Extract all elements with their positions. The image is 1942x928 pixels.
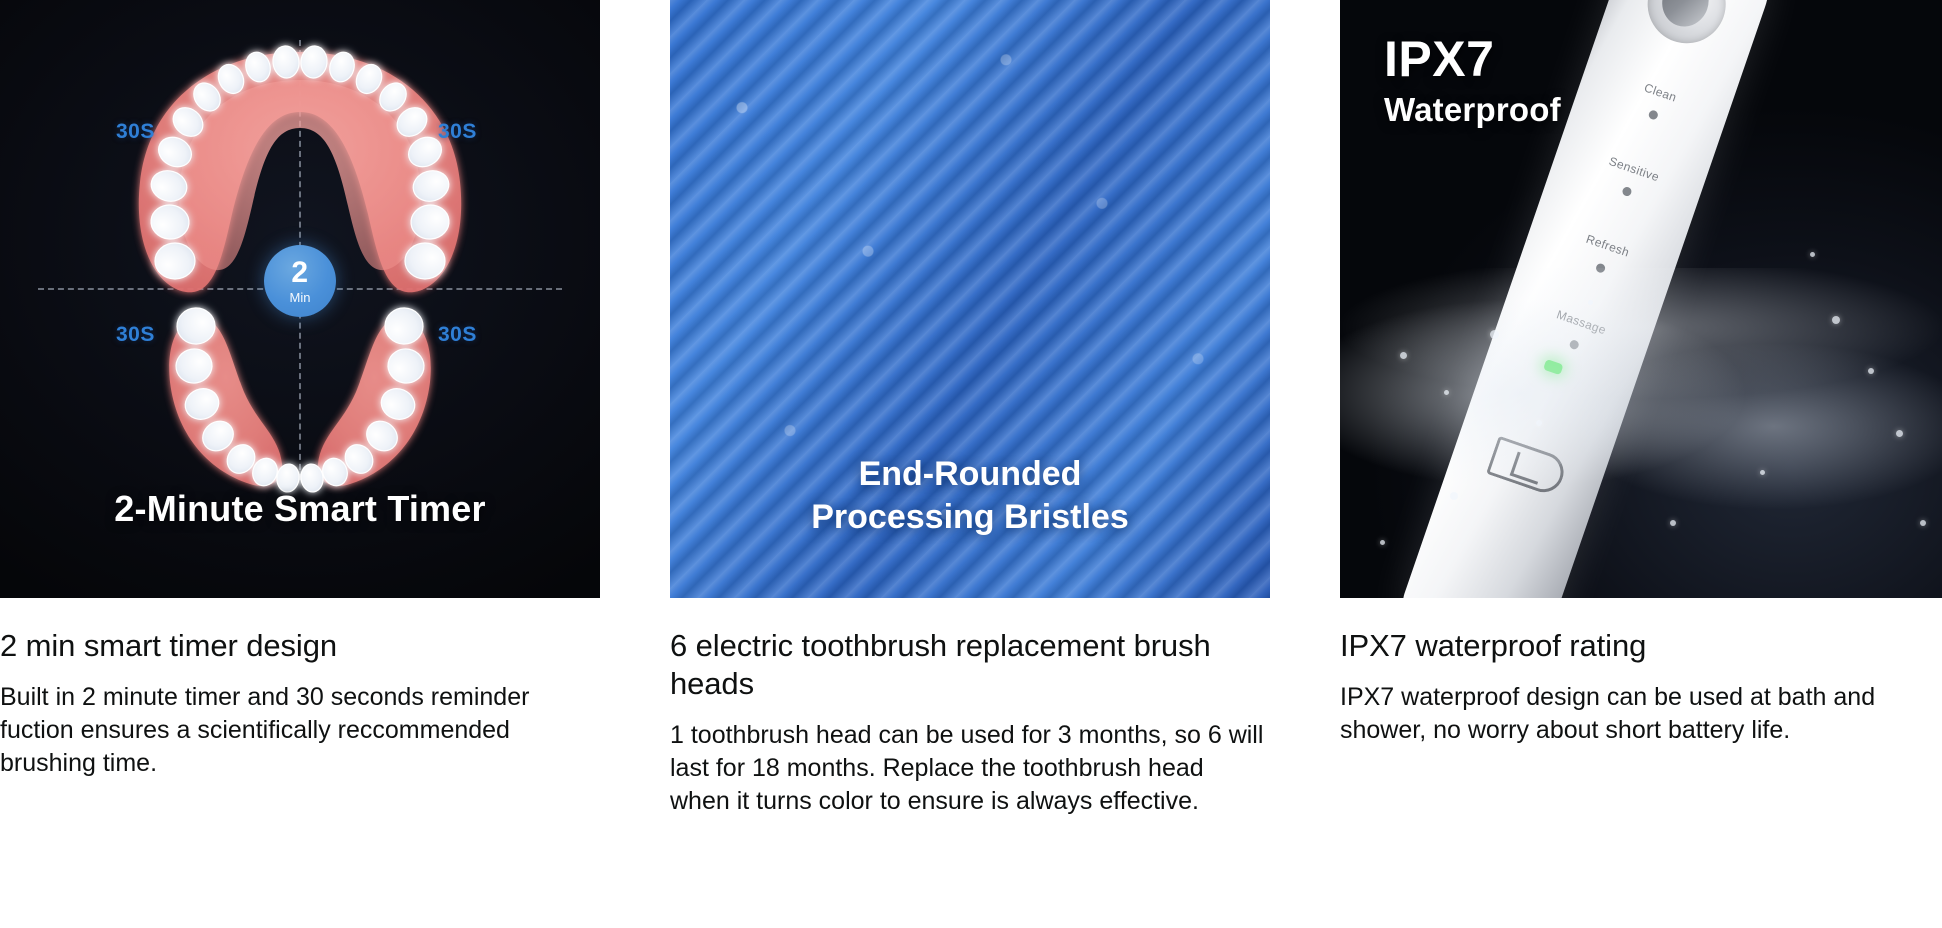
feature-title-brush-heads: 6 electric toothbrush replacement brush … xyxy=(670,598,1270,703)
feature-title-ipx7: IPX7 waterproof rating xyxy=(1340,598,1942,665)
timer-feature-image: 30S 30S 30S 30S 2 Min 2-Minute Smart Tim… xyxy=(0,0,600,598)
feature-grid: 30S 30S 30S 30S 2 Min 2-Minute Smart Tim… xyxy=(0,0,1942,818)
feature-cards-page: 30S 30S 30S 30S 2 Min 2-Minute Smart Tim… xyxy=(0,0,1942,928)
mode-dot-sensitive xyxy=(1621,186,1632,197)
timer-label-top-left: 30S xyxy=(116,120,155,144)
mode-label-massage: Massage xyxy=(1555,307,1608,337)
mode-label-sensitive: Sensitive xyxy=(1607,154,1661,184)
mode-label-refresh: Refresh xyxy=(1584,232,1631,260)
feature-body-smart-timer: Built in 2 minute timer and 30 seconds r… xyxy=(0,665,600,781)
two-minute-badge: 2 Min xyxy=(264,245,336,317)
ipx7-feature-image: Clean Sensitive Refresh Massage xyxy=(1340,0,1942,598)
mode-dot-clean xyxy=(1647,109,1658,120)
bristles-image-caption: End-Rounded Processing Bristles xyxy=(670,453,1270,540)
mode-dot-refresh xyxy=(1594,262,1605,273)
timer-text-block: 2 min smart timer design Built in 2 minu… xyxy=(0,598,600,781)
bristles-feature-image: End-Rounded Processing Bristles xyxy=(670,0,1270,598)
timer-image-caption: 2-Minute Smart Timer xyxy=(0,488,600,530)
brush-heads-text-block: 6 electric toothbrush replacement brush … xyxy=(670,598,1270,818)
ipx7-text-block: IPX7 waterproof rating IPX7 waterproof d… xyxy=(1340,598,1942,747)
mode-dot-massage xyxy=(1568,339,1579,350)
badge-number: 2 xyxy=(291,258,308,288)
brush-head-knob-icon xyxy=(1637,0,1736,54)
bristles-caption-line-1: End-Rounded xyxy=(670,453,1270,497)
bristles-caption-line-2: Processing Bristles xyxy=(670,496,1270,540)
feature-column-smart-timer: 30S 30S 30S 30S 2 Min 2-Minute Smart Tim… xyxy=(0,0,600,818)
feature-body-brush-heads: 1 toothbrush head can be used for 3 mont… xyxy=(670,703,1270,819)
mode-label-clean: Clean xyxy=(1642,80,1678,104)
mode-item-refresh: Refresh xyxy=(1543,220,1666,292)
mode-item-massage: Massage xyxy=(1516,296,1639,368)
mode-item-clean: Clean xyxy=(1596,67,1719,139)
timer-label-bottom-left: 30S xyxy=(116,323,155,347)
brand-logo-icon xyxy=(1486,436,1569,498)
feature-column-brush-heads: End-Rounded Processing Bristles 6 electr… xyxy=(670,0,1270,818)
feature-column-ipx7: Clean Sensitive Refresh Massage xyxy=(1340,0,1942,818)
ipx7-subheading: Waterproof xyxy=(1384,92,1561,128)
feature-title-smart-timer: 2 min smart timer design xyxy=(0,598,600,665)
ipx7-overlay-text: IPX7 Waterproof xyxy=(1384,32,1561,128)
timer-label-bottom-right: 30S xyxy=(438,323,477,347)
timer-label-top-right: 30S xyxy=(438,120,477,144)
mode-item-sensitive: Sensitive xyxy=(1569,143,1692,215)
battery-led-indicator xyxy=(1543,359,1564,375)
badge-unit: Min xyxy=(290,291,311,304)
ipx7-heading: IPX7 xyxy=(1384,32,1561,86)
feature-body-ipx7: IPX7 waterproof design can be used at ba… xyxy=(1340,665,1942,748)
